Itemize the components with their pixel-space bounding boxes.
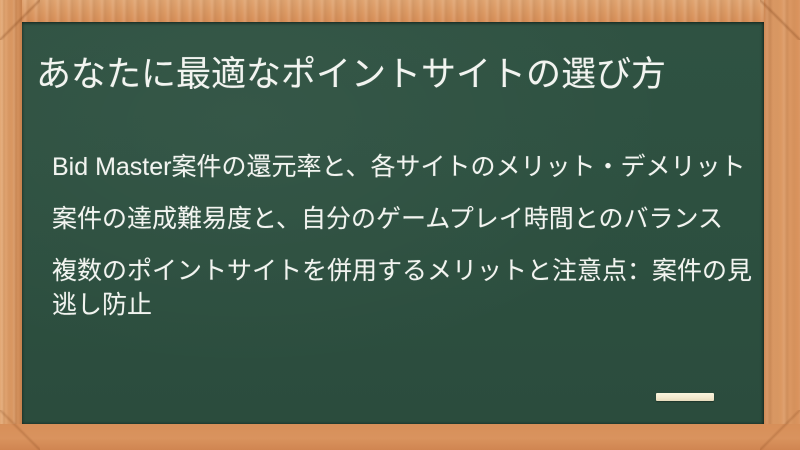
list-item: 案件の達成難易度と、自分のゲームプレイ時間とのバランス xyxy=(52,202,758,236)
board-title: あなたに最適なポイントサイトの選び方 xyxy=(36,53,752,97)
chalkboard-surface: あなたに最適なポイントサイトの選び方 Bid Master案件の還元率と、各サイ… xyxy=(22,22,764,424)
board-bullet-list: Bid Master案件の還元率と、各サイトのメリット・デメリット 案件の達成難… xyxy=(52,150,758,322)
frame-rail-right xyxy=(764,0,800,450)
frame-ledge-bottom xyxy=(0,424,800,450)
list-item: 複数のポイントサイトを併用するメリットと注意点：案件の見逃し防止 xyxy=(52,254,758,322)
chalk-stick-icon xyxy=(656,393,714,401)
list-item: Bid Master案件の還元率と、各サイトのメリット・デメリット xyxy=(52,150,758,184)
blackboard-frame: あなたに最適なポイントサイトの選び方 Bid Master案件の還元率と、各サイ… xyxy=(0,0,800,450)
frame-rail-left xyxy=(0,0,22,450)
frame-rail-top xyxy=(0,0,800,22)
